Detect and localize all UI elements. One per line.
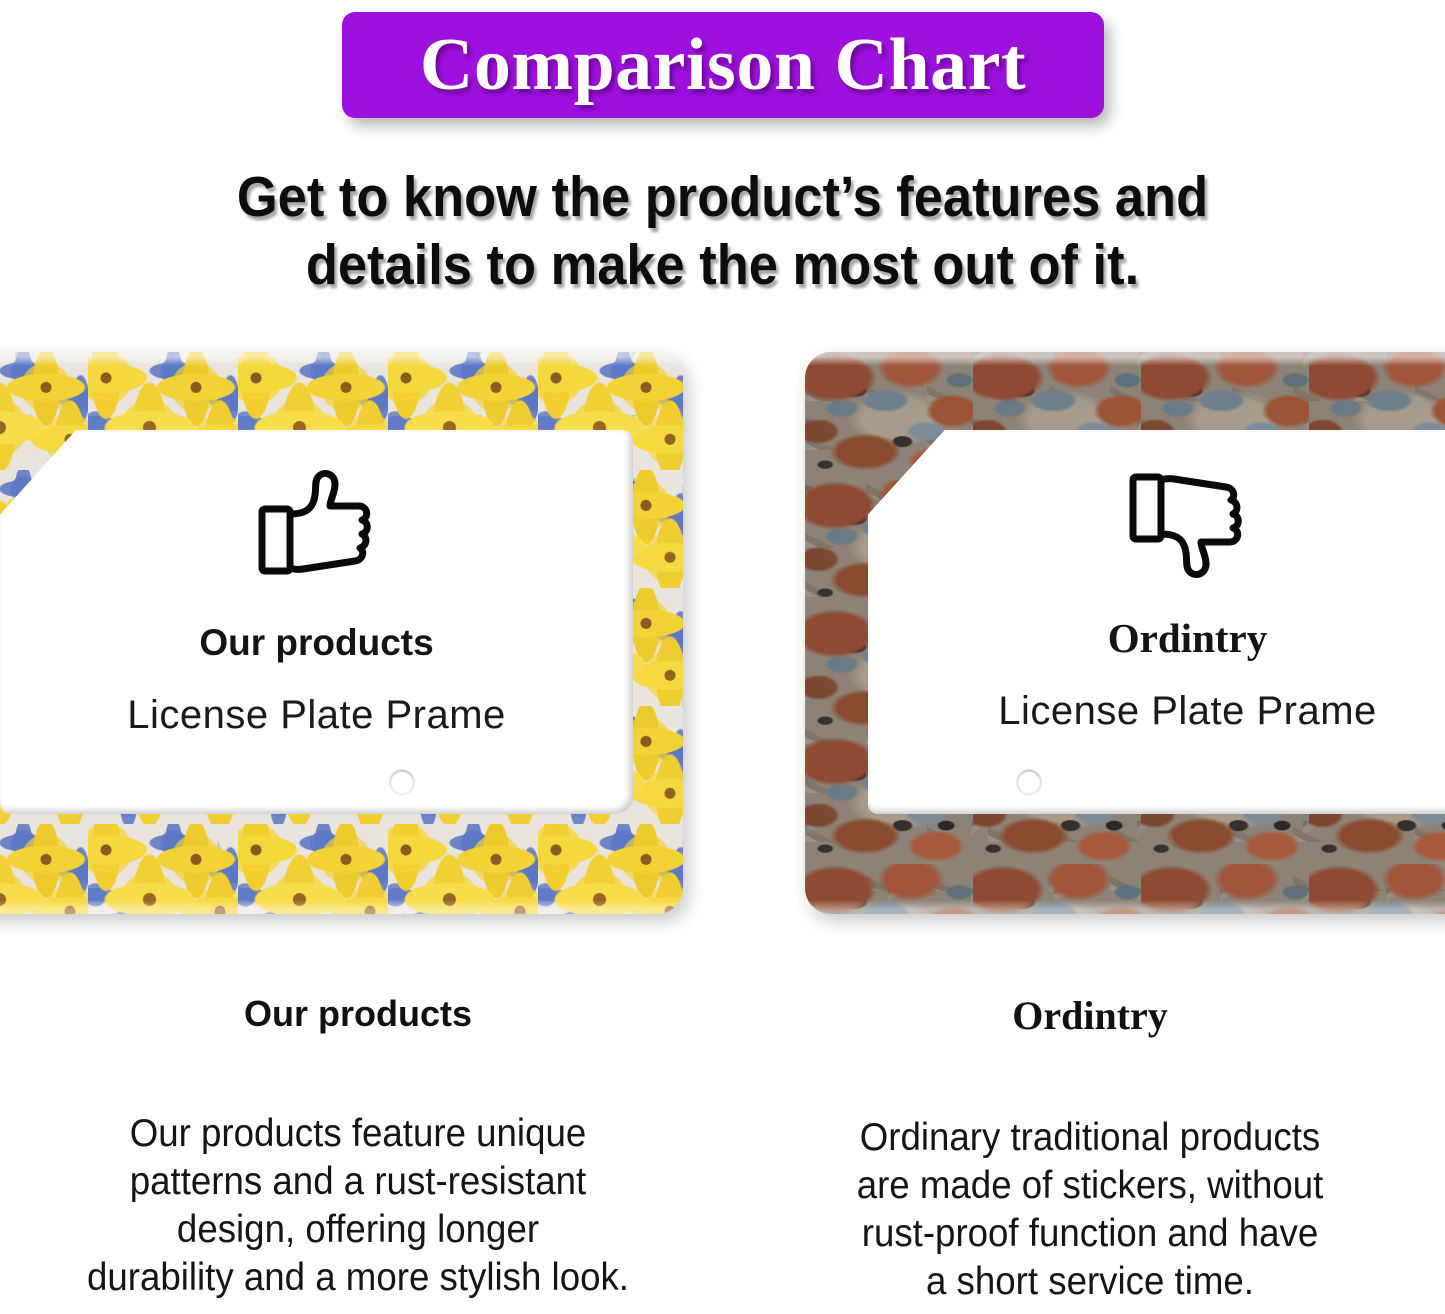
detail-line: are made of stickers, without <box>780 1162 1400 1210</box>
detail-line: patterns and a rust-resistant <box>48 1158 668 1206</box>
page-title: Comparison Chart <box>420 28 1026 102</box>
detail-line: Ordinary traditional products <box>780 1114 1400 1162</box>
ordinary-product-content: Ordintry License Plate Prame <box>805 470 1445 731</box>
subtitle-line-2: details to make the most out of it. <box>58 231 1387 299</box>
ordinary-product-name-label: License Plate Prame <box>868 691 1445 731</box>
our-product-details: Our products Our products feature unique… <box>28 996 688 1302</box>
page-subtitle: Get to know the product’s features and d… <box>58 163 1387 299</box>
product-frames-row: Our products License Plate Prame Ordintr… <box>0 352 1445 922</box>
ordinary-product-details: Ordintry Ordinary traditional products a… <box>760 996 1420 1306</box>
thumbs-down-icon <box>1127 470 1249 578</box>
ordinary-product-brand-label: Ordintry <box>868 618 1445 659</box>
details-row: Our products Our products feature unique… <box>0 996 1445 1314</box>
subtitle-line-1: Get to know the product’s features and <box>58 163 1387 231</box>
comparison-chart-page: Comparison Chart Get to know the product… <box>0 0 1445 1314</box>
detail-line: durability and a more stylish look. <box>48 1254 668 1302</box>
our-product-details-body: Our products feature unique patterns and… <box>48 1110 668 1302</box>
detail-line: Our products feature unique <box>48 1110 668 1158</box>
detail-line: design, offering longer <box>48 1206 668 1254</box>
header-banner-background: Comparison Chart <box>342 12 1104 118</box>
our-product-brand-label: Our products <box>0 624 633 661</box>
thumbs-up-icon <box>256 470 378 578</box>
detail-line: rust-proof function and have <box>780 1210 1400 1258</box>
our-product-frame: Our products License Plate Prame <box>0 352 683 914</box>
our-product-details-title: Our products <box>28 996 688 1032</box>
ordinary-product-frame: Ordintry License Plate Prame <box>805 352 1445 914</box>
mounting-hole <box>390 770 414 794</box>
our-product-content: Our products License Plate Prame <box>0 470 683 735</box>
header-banner: Comparison Chart <box>342 12 1104 118</box>
detail-line: a short service time. <box>780 1258 1400 1306</box>
ordinary-product-details-title: Ordintry <box>760 996 1420 1036</box>
mounting-hole <box>1017 770 1041 794</box>
our-product-name-label: License Plate Prame <box>0 695 633 735</box>
ordinary-product-details-body: Ordinary traditional products are made o… <box>780 1114 1400 1306</box>
